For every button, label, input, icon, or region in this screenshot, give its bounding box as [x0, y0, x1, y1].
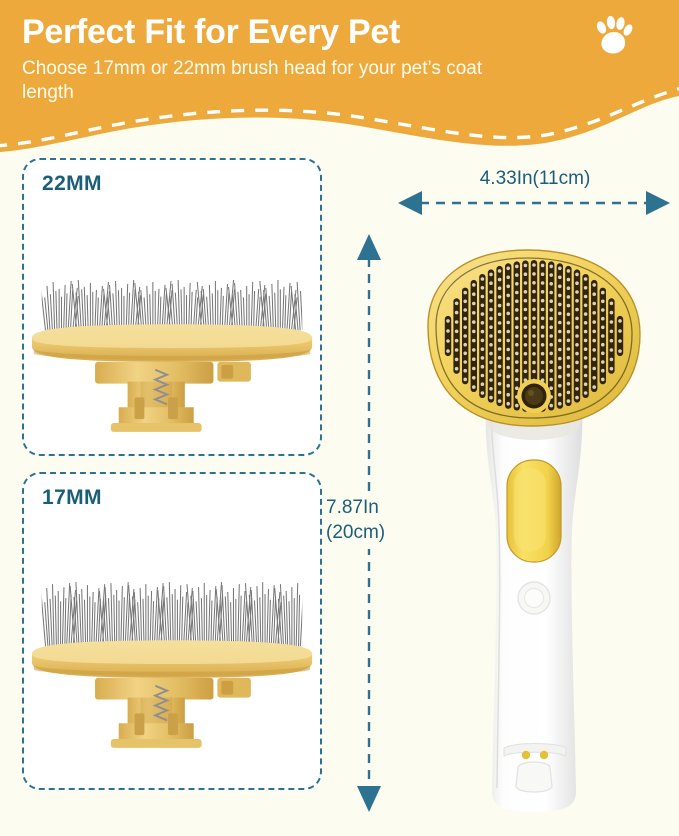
card-label-17mm: 17MM	[42, 486, 102, 510]
charging-contact-left	[522, 751, 530, 759]
header-text-block: Perfect Fit for Every Pet Choose 17mm or…	[22, 14, 582, 105]
spec-card-17mm[interactable]: 17MM	[22, 472, 322, 790]
dimension-width-label: 4.33In(11cm)	[400, 168, 670, 190]
page-title: Perfect Fit for Every Pet	[22, 14, 582, 51]
base-latch	[516, 762, 552, 792]
dimension-width-arrow	[396, 190, 672, 216]
spec-card-22mm[interactable]: 22MM	[22, 158, 322, 456]
header-banner: Perfect Fit for Every Pet Choose 17mm or…	[0, 0, 679, 160]
dimension-height-inches: 7.87In	[326, 497, 379, 518]
charging-contact-right	[540, 751, 548, 759]
pet-grooming-brush-product-image	[398, 228, 670, 816]
card-label-22mm: 22MM	[42, 172, 102, 196]
page-subtitle: Choose 17mm or 22mm brush head for your …	[22, 57, 512, 106]
brush-head-22mm-illustration	[24, 258, 320, 448]
paw-print-icon	[592, 14, 634, 56]
brush-head-17mm-illustration	[24, 552, 320, 782]
